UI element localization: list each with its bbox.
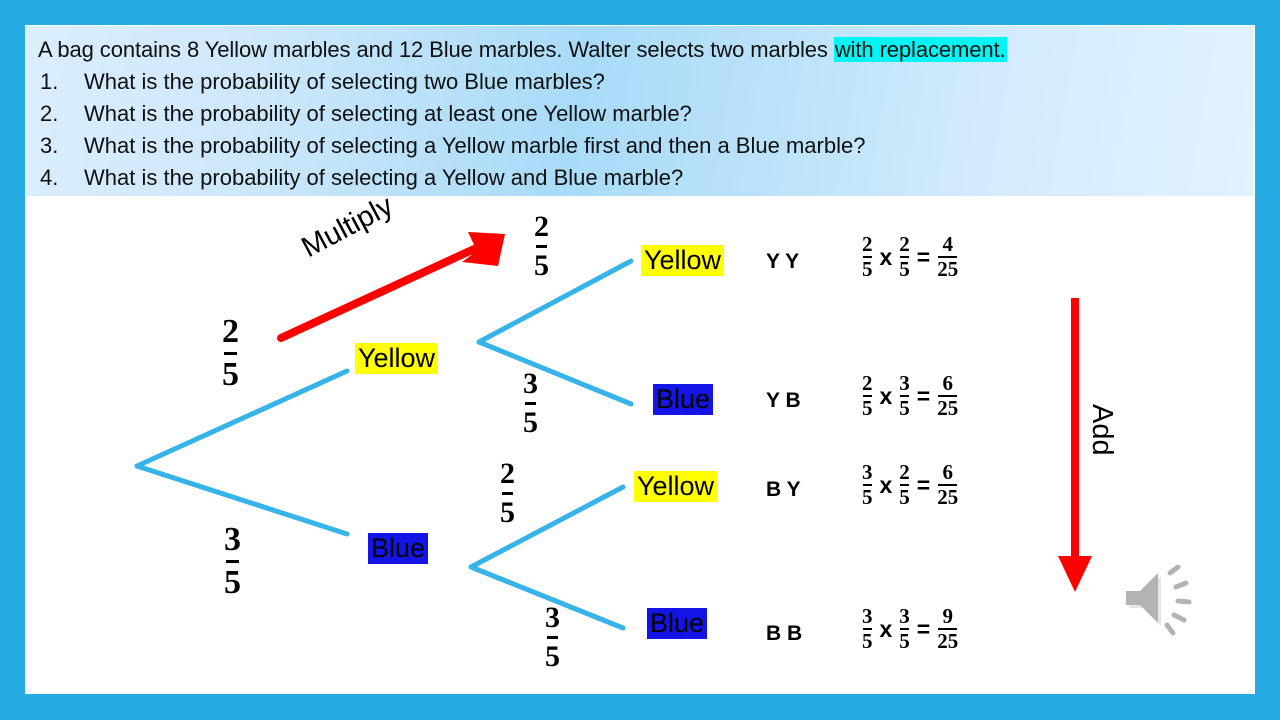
prob-root-yellow-numerator: 2 [222,315,239,349]
eq-yb-b-num: 3 [899,373,910,394]
speaker-icon[interactable] [1122,565,1214,637]
node-level1-yellow[interactable]: Yellow [355,343,438,374]
node-level2-blue-1[interactable]: Blue [653,384,713,415]
eq-by-b-num: 2 [899,462,910,483]
branch-blue-yellow [471,487,623,567]
prob-root-blue-denominator: 5 [224,566,241,600]
prob-by-numerator: 2 [500,459,515,489]
equation-yb: 2 5 x 3 5 = 6 25 [862,373,958,419]
eq-bb-b-num: 3 [899,606,910,627]
outcome-pair-bb: B B [766,622,802,646]
equation-bb: 3 5 x 3 5 = 9 25 [862,606,958,652]
prob-blue-yellow: 2 5 [500,459,515,528]
tree-branch-lines [137,261,631,628]
prob-root-blue: 3 5 [224,523,241,600]
eq-bb-operator: x [880,616,893,643]
fraction-bar [547,636,558,639]
prob-yb-denominator: 5 [523,408,538,438]
outcome-pair-by: B Y [766,478,801,502]
fraction-bar [226,560,239,563]
eq-bb-a-den: 5 [862,631,873,652]
add-arrow-head [1058,556,1092,592]
eq-yb-equals: = [917,383,930,410]
fraction-bar [502,492,513,495]
eq-bb-equals: = [917,616,930,643]
fraction-bar [536,245,547,248]
eq-yb-b-den: 5 [899,398,910,419]
prob-yellow-yellow: 2 5 [534,212,549,281]
slide: A bag contains 8 Yellow marbles and 12 B… [0,0,1280,720]
eq-yy-b-num: 2 [899,234,910,255]
eq-by-operator: x [880,472,893,499]
tree-diagram-lines [0,0,1280,720]
eq-yb-result-num: 6 [937,373,958,394]
prob-root-blue-numerator: 3 [224,523,241,557]
branch-yellow-yellow [479,261,631,342]
outcome-pair-yy: Y Y [766,250,799,274]
eq-yy-a-num: 2 [862,234,873,255]
branch-root-blue [137,466,347,534]
eq-yy-operator: x [880,244,893,271]
prob-yy-numerator: 2 [534,212,549,242]
eq-yb-result-den: 25 [937,398,958,419]
speaker-waves [1167,567,1189,633]
eq-yy-result-den: 25 [937,259,958,280]
eq-yb-a-num: 2 [862,373,873,394]
node-level1-blue[interactable]: Blue [368,533,428,564]
prob-by-denominator: 5 [500,498,515,528]
prob-blue-blue: 3 5 [545,603,560,672]
add-label: Add [1085,404,1118,456]
eq-by-result-num: 6 [937,462,958,483]
eq-by-result-den: 25 [937,487,958,508]
eq-bb-result-den: 25 [937,631,958,652]
fraction-bar [525,402,536,405]
node-level2-blue-2[interactable]: Blue [647,608,707,639]
node-level2-yellow-1[interactable]: Yellow [641,245,724,276]
equation-by: 3 5 x 2 5 = 6 25 [862,462,958,508]
prob-bb-numerator: 3 [545,603,560,633]
eq-by-a-num: 3 [862,462,873,483]
eq-yb-operator: x [880,383,893,410]
branch-root-yellow [137,371,347,466]
prob-root-yellow: 2 5 [222,315,239,392]
node-level2-yellow-2[interactable]: Yellow [634,471,717,502]
eq-yy-b-den: 5 [899,259,910,280]
prob-root-yellow-denominator: 5 [222,358,239,392]
eq-yb-a-den: 5 [862,398,873,419]
eq-yy-a-den: 5 [862,259,873,280]
eq-yy-result-num: 4 [937,234,958,255]
prob-yb-numerator: 3 [523,369,538,399]
eq-by-a-den: 5 [862,487,873,508]
prob-yellow-blue: 3 5 [523,369,538,438]
speaker-cone [1126,573,1158,623]
eq-yy-equals: = [917,244,930,271]
prob-bb-denominator: 5 [545,642,560,672]
eq-bb-result-num: 9 [937,606,958,627]
fraction-bar [224,352,237,355]
eq-by-equals: = [917,472,930,499]
equation-yy: 2 5 x 2 5 = 4 25 [862,234,958,280]
eq-bb-b-den: 5 [899,631,910,652]
branch-yellow-blue [479,342,631,404]
outcome-pair-yb: Y B [766,389,801,413]
prob-yy-denominator: 5 [534,251,549,281]
eq-by-b-den: 5 [899,487,910,508]
eq-bb-a-num: 3 [862,606,873,627]
